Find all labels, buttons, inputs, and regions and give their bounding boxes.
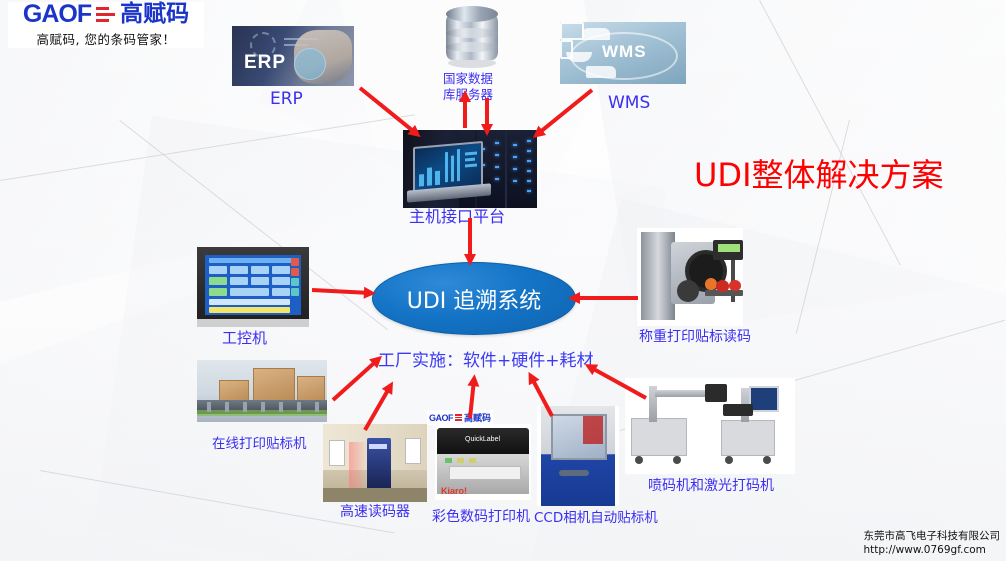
inkjet-cart [631,418,687,456]
footer: 东莞市高飞电子科技有限公司 http://www.0769gf.com [864,529,1001,557]
label-inkjet-laser: 喷码机和激光打码机 [648,478,774,494]
online-labeler-image [197,360,327,422]
erp-image: ERP [232,26,354,86]
ccd-handle [559,470,589,476]
label-online-labeler: 在线打印贴标机 [212,437,307,453]
barcode-bars-icon [94,7,117,23]
produce-item [729,280,741,291]
company-logo: GAOF 高赋码 高赋码, 您的条码管家！ [8,2,204,48]
laser-head [723,404,753,416]
logo-chinese-text: 高赋码 [120,3,189,26]
label-sheet [405,438,421,464]
mini-logo-latin: GAOF [429,413,453,423]
wms-monitor-icon [560,22,584,40]
weigh-frame [641,232,675,320]
logo-tagline: 高赋码, 您的条码管家！ [37,29,176,48]
inkjet-laser-image [625,378,795,474]
wms-people-icon [582,28,610,40]
printer-logo-text: Kiaro! [441,486,467,496]
label-reel-secondary [677,280,699,302]
server-rack [507,130,537,208]
color-printer-image: QuickLabel Kiaro! [435,424,531,500]
mini-company-logo: GAOF 高赋码 [427,410,493,425]
erp-image-caption: ERP [244,52,286,74]
reader-floor [323,488,427,502]
label-database-line1: 国家数据 [443,72,493,86]
logo-latin-text: GAOF [23,2,91,27]
label-wms: WMS [608,94,650,114]
label-weighing-labeling: 称重打印贴标读码 [639,329,751,345]
reader-device-badge [369,444,387,449]
label-color-printer: 彩色数码打印机 [432,509,530,525]
hmi-screen [205,255,301,315]
industrial-pc-image [197,247,309,327]
weighing-labeling-image [637,228,743,326]
erp-hex-icon [294,48,326,80]
wms-image-caption: WMS [602,42,647,62]
printer-brand-text: QuickLabel [465,436,500,443]
high-speed-reader-image [323,424,427,502]
footer-company: 东莞市高飞电子科技有限公司 [864,529,1001,543]
scan-beam [349,442,367,488]
mini-barcode-bars-icon [455,414,462,421]
scale-display [718,244,740,252]
slide-canvas: GAOF 高赋码 高赋码, 您的条码管家！ UDI整体解决方案 ERP ERP … [0,0,1006,561]
wms-truck-icon [586,66,616,78]
label-sheet [329,440,345,466]
database-server-icon [438,2,506,70]
ccd-control-panel [583,416,603,444]
center-label: UDI 追溯系统 [407,283,542,315]
database-cylinder-icon [446,6,498,64]
factory-implementation-note: 工厂实施：软件+硬件+耗材 [378,352,594,372]
host-platform-image [403,130,537,208]
page-title: UDI整体解决方案 [694,150,944,196]
label-high-speed-reader: 高速读码器 [340,504,410,520]
udi-traceability-system-node[interactable]: UDI 追溯系统 [372,262,576,335]
label-host-platform: 主机接口平台 [409,208,505,226]
inkjet-head [705,384,727,402]
ccd-labeler-image [537,406,619,506]
label-industrial-pc: 工控机 [222,330,267,347]
logo-wordmark: GAOF 高赋码 [23,2,189,27]
label-ccd-labeler: CCD相机自动贴标机 [534,511,658,527]
laser-cart [721,420,775,456]
label-erp: ERP [270,90,303,110]
wms-image: WMS [560,22,686,84]
produce-item [716,280,729,292]
hmi-stand [197,319,309,327]
footer-website[interactable]: http://www.0769gf.com [864,543,1001,557]
carton [253,368,295,404]
laser-screen [749,386,779,412]
printer-output-slot [449,466,521,480]
